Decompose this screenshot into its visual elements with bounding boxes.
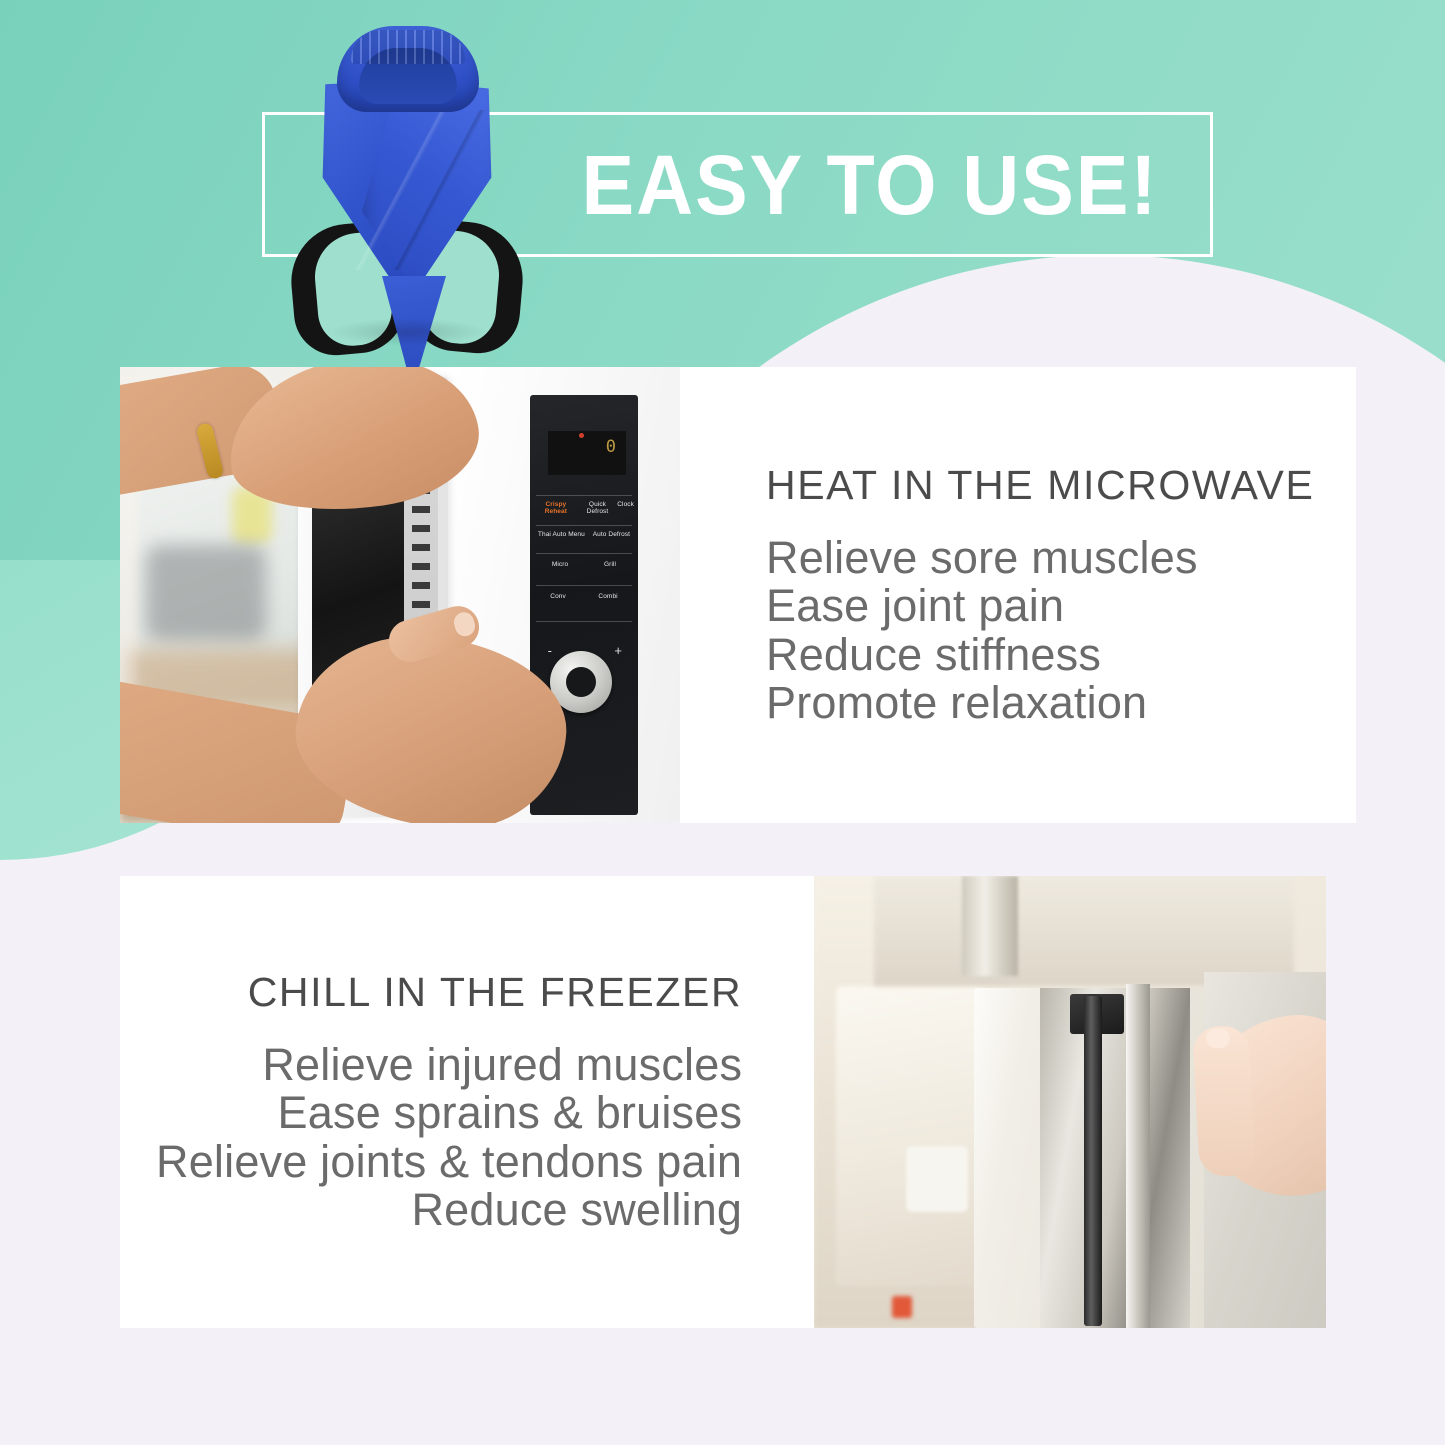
fridge-interior-shelf bbox=[836, 986, 984, 1286]
freezer-door[interactable] bbox=[974, 988, 1204, 1328]
product-shadow bbox=[328, 318, 488, 346]
freezer-photo bbox=[814, 876, 1326, 1328]
fingernail bbox=[1206, 1028, 1230, 1048]
microwave-button-row-2[interactable]: Thai Auto Menu Auto Defrost bbox=[534, 531, 634, 538]
door-edge-chrome bbox=[1126, 984, 1150, 1328]
chill-benefit-list: Relieve injured muscles Ease sprains & b… bbox=[156, 1041, 742, 1234]
list-item: Ease joint pain bbox=[766, 582, 1198, 630]
heat-benefit-list: Relieve sore muscles Ease joint pain Red… bbox=[766, 534, 1198, 727]
product-collar-ribbing bbox=[351, 30, 465, 64]
button-combi[interactable]: Combi bbox=[598, 593, 617, 600]
upper-cabinet bbox=[874, 876, 1294, 986]
interior-white-container bbox=[906, 1146, 968, 1212]
list-item: Ease sprains & bruises bbox=[156, 1089, 742, 1137]
list-item: Reduce swelling bbox=[156, 1186, 742, 1234]
indicator-light-icon bbox=[579, 433, 584, 438]
button-micro[interactable]: Micro bbox=[552, 561, 568, 568]
product-infographic-poster: EASY TO USE! bbox=[0, 0, 1445, 1445]
card-chill-in-the-freezer: CHILL IN THE FREEZER Relieve injured mus… bbox=[120, 876, 1326, 1328]
upper-chrome-trim bbox=[962, 876, 1018, 976]
panel-divider bbox=[536, 495, 632, 496]
fingers-gripping-handle bbox=[1192, 1025, 1256, 1178]
chill-section-title: CHILL IN THE FREEZER bbox=[248, 970, 742, 1015]
list-item: Relieve injured muscles bbox=[156, 1041, 742, 1089]
product-image-neck-wrap bbox=[282, 18, 532, 363]
microwave-photo: 0 Crispy Reheat Quick Defrost Clock Thai… bbox=[120, 367, 680, 823]
button-crispy-reheat[interactable]: Crispy Reheat bbox=[534, 501, 578, 516]
chill-text-pane: CHILL IN THE FREEZER Relieve injured mus… bbox=[120, 876, 814, 1328]
list-item: Promote relaxation bbox=[766, 679, 1198, 727]
stainless-steel-surface bbox=[1040, 988, 1190, 1328]
panel-divider bbox=[536, 621, 632, 622]
panel-divider bbox=[536, 585, 632, 586]
panel-divider bbox=[536, 525, 632, 526]
microwave-display-value: 0 bbox=[606, 437, 616, 457]
freezer-door-handle[interactable] bbox=[1084, 996, 1102, 1326]
decrease-button[interactable]: - bbox=[548, 643, 552, 658]
product-seam bbox=[328, 110, 486, 270]
button-quick-defrost[interactable]: Quick Defrost bbox=[578, 501, 618, 516]
interior-red-item bbox=[892, 1296, 912, 1318]
heat-text-pane: HEAT IN THE MICROWAVE Relieve sore muscl… bbox=[680, 367, 1356, 823]
list-item: Relieve sore muscles bbox=[766, 534, 1198, 582]
microwave-button-row-1[interactable]: Crispy Reheat Quick Defrost Clock bbox=[534, 501, 634, 516]
product-body bbox=[320, 80, 496, 330]
list-item: Relieve joints & tendons pain bbox=[156, 1138, 742, 1186]
button-clock[interactable]: Clock bbox=[617, 501, 634, 516]
panel-divider bbox=[536, 553, 632, 554]
page-title: EASY TO USE! bbox=[541, 112, 1199, 257]
microwave-button-row-3[interactable]: Micro Grill bbox=[534, 561, 634, 568]
button-auto-defrost[interactable]: Auto Defrost bbox=[593, 531, 630, 538]
button-grill[interactable]: Grill bbox=[604, 561, 616, 568]
background-blur-object bbox=[146, 545, 266, 641]
product-collar bbox=[337, 26, 479, 112]
card-heat-in-the-microwave: 0 Crispy Reheat Quick Defrost Clock Thai… bbox=[120, 367, 1356, 823]
increase-button[interactable]: + bbox=[614, 643, 622, 658]
microwave-button-row-4[interactable]: Conv Combi bbox=[534, 593, 634, 600]
button-thai-auto-menu[interactable]: Thai Auto Menu bbox=[538, 531, 585, 538]
button-conv[interactable]: Conv bbox=[550, 593, 566, 600]
list-item: Reduce stiffness bbox=[766, 631, 1198, 679]
heat-section-title: HEAT IN THE MICROWAVE bbox=[766, 463, 1314, 508]
